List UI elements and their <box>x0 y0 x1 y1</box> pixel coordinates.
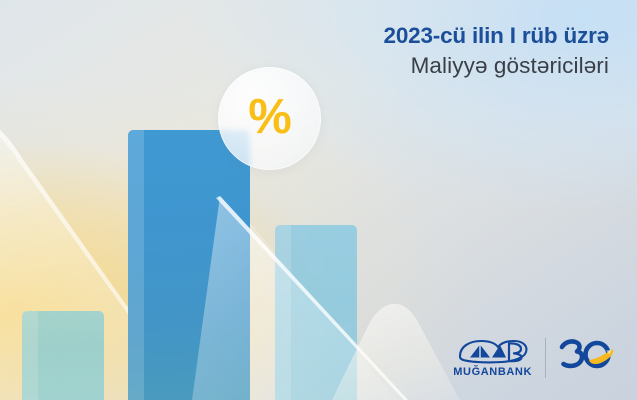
percent-icon: % <box>248 93 291 142</box>
chart-bar-2-facet <box>128 130 144 400</box>
muganbank-mark-icon <box>456 339 530 365</box>
anniversary-30-icon: 30 <box>559 338 615 378</box>
anniversary-30-label: 30 <box>588 370 589 371</box>
headline-block: 2023-cü ilin I rüb üzrə Maliyyə göstəric… <box>384 22 609 81</box>
headline-line-1: 2023-cü ilin I rüb üzrə <box>384 22 609 49</box>
logo-lockup[interactable]: MUĞANBANK 30 <box>453 338 615 378</box>
muganbank-wordmark: MUĞANBANK <box>453 367 532 378</box>
logo-divider <box>545 338 546 378</box>
chart-bar-3-facet <box>275 225 291 400</box>
financial-results-banner: % 2023-cü ilin I rüb üzrə Maliyyə göstər… <box>0 0 637 400</box>
chart-bar-2 <box>128 130 250 400</box>
chart-bar-1 <box>22 311 104 400</box>
chart-bar-3 <box>275 225 357 400</box>
headline-line-2: Maliyyə göstəriciləri <box>384 51 609 80</box>
chart-bar-1-facet <box>22 311 38 400</box>
muganbank-logo[interactable]: MUĞANBANK <box>453 339 532 378</box>
percent-badge: % <box>218 67 321 170</box>
